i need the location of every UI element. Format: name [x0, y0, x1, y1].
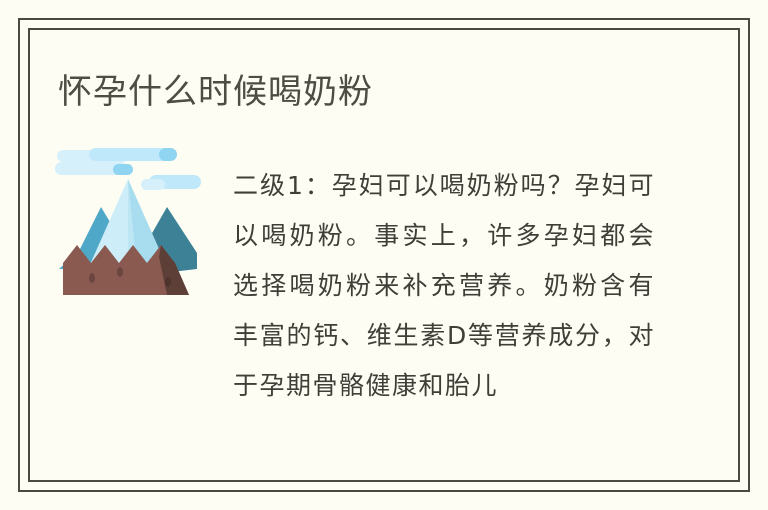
mountain-landscape-icon — [55, 145, 201, 297]
article-card: 怀孕什么时候喝奶粉 — [0, 0, 768, 510]
content-row: 二级1：孕妇可以喝奶粉吗？孕妇可以喝奶粉。事实上，许多孕妇都会选择喝奶粉来补充营… — [55, 145, 695, 425]
page-title: 怀孕什么时候喝奶粉 — [58, 64, 373, 113]
article-body: 二级1：孕妇可以喝奶粉吗？孕妇可以喝奶粉。事实上，许多孕妇都会选择喝奶粉来补充营… — [233, 161, 655, 411]
